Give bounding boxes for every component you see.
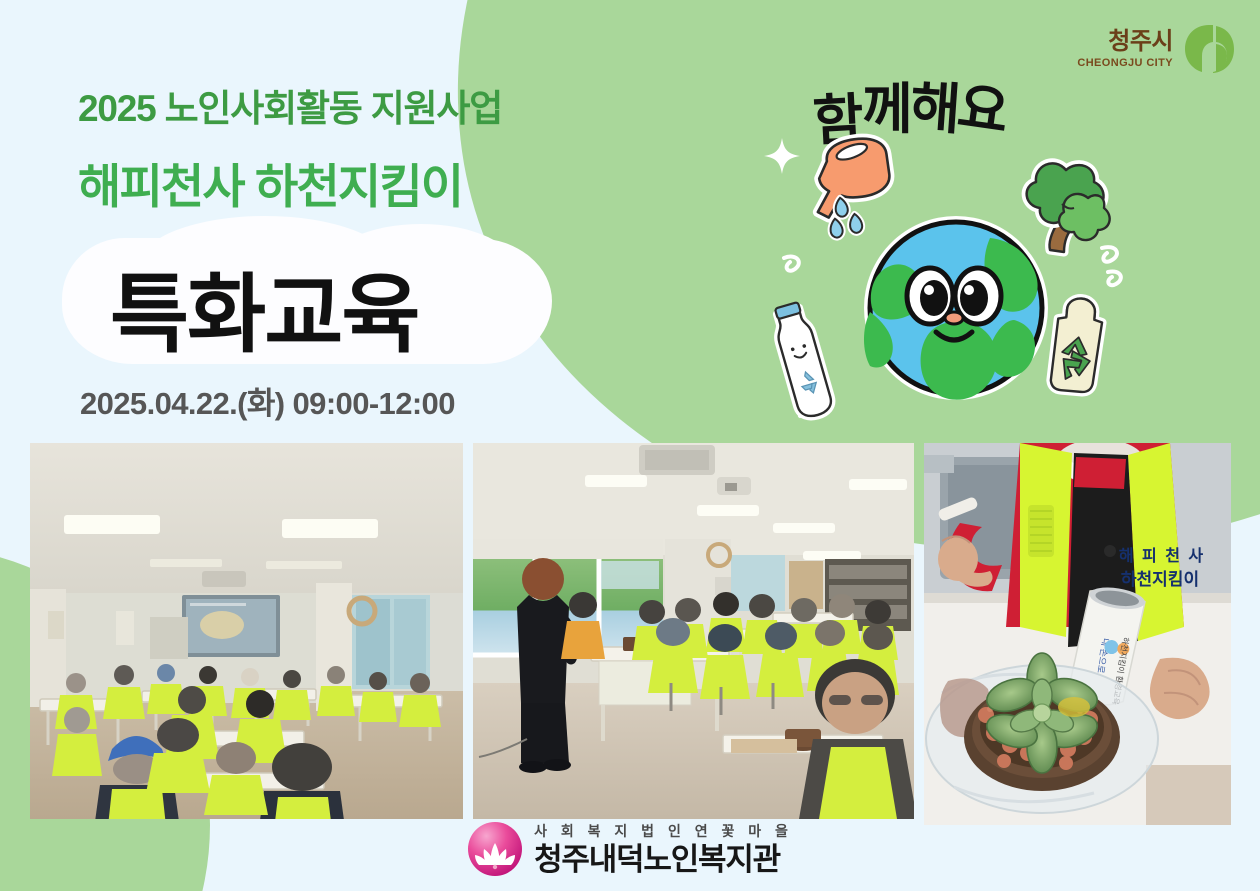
event-datetime: 2025.04.22.(화) 09:00-12:00 xyxy=(80,378,455,423)
tree-icon xyxy=(1027,163,1110,252)
city-logo-korean: 청주시 xyxy=(1077,30,1173,54)
org-main-name: 청주내덕노인복지관 xyxy=(534,844,793,875)
lotus-flower-icon xyxy=(467,821,523,877)
page-title: 특화교육 xyxy=(110,244,418,369)
svg-text:하천지킴이: 하천지킴이 xyxy=(1121,569,1199,589)
program-subtitle: 해피천사 하천지킴이 xyxy=(78,148,462,217)
plastic-bottle-icon xyxy=(770,301,834,420)
organization-logo: 사 회 복 지 법 인 연 꽃 마 을 청주내덕노인복지관 xyxy=(0,821,1260,877)
city-logo-english: CHEONGJU CITY xyxy=(1077,58,1173,69)
photo-planting: 해 피 천 사 하천지킴이 내 손으로 하천지킴이 환경교육 xyxy=(924,443,1231,825)
recycle-bag-icon xyxy=(1050,297,1104,394)
watering-can-icon xyxy=(809,135,897,240)
poster-canvas: 2025 노인사회활동 지원사업 해피천사 하천지킴이 특화교육 2025.04… xyxy=(0,0,1260,891)
cheongju-city-mark-icon xyxy=(1182,22,1236,76)
sparkle-icon xyxy=(764,138,800,174)
smiling-earth-icon xyxy=(864,216,1048,400)
kicker-text: 2025 노인사회활동 지원사업 xyxy=(78,78,502,132)
earth-illustration-scene xyxy=(760,130,1160,430)
svg-text:해 피 천 사: 해 피 천 사 xyxy=(1119,547,1205,565)
cheongju-city-logo: 청주시 CHEONGJU CITY xyxy=(1077,22,1236,76)
org-sub-name: 사 회 복 지 법 인 연 꽃 마 을 xyxy=(534,824,793,838)
photo-classroom-rear: 청주내덕노인복지관 청주내덕노인복지관 xyxy=(30,443,463,819)
photo-lecture xyxy=(473,443,914,819)
